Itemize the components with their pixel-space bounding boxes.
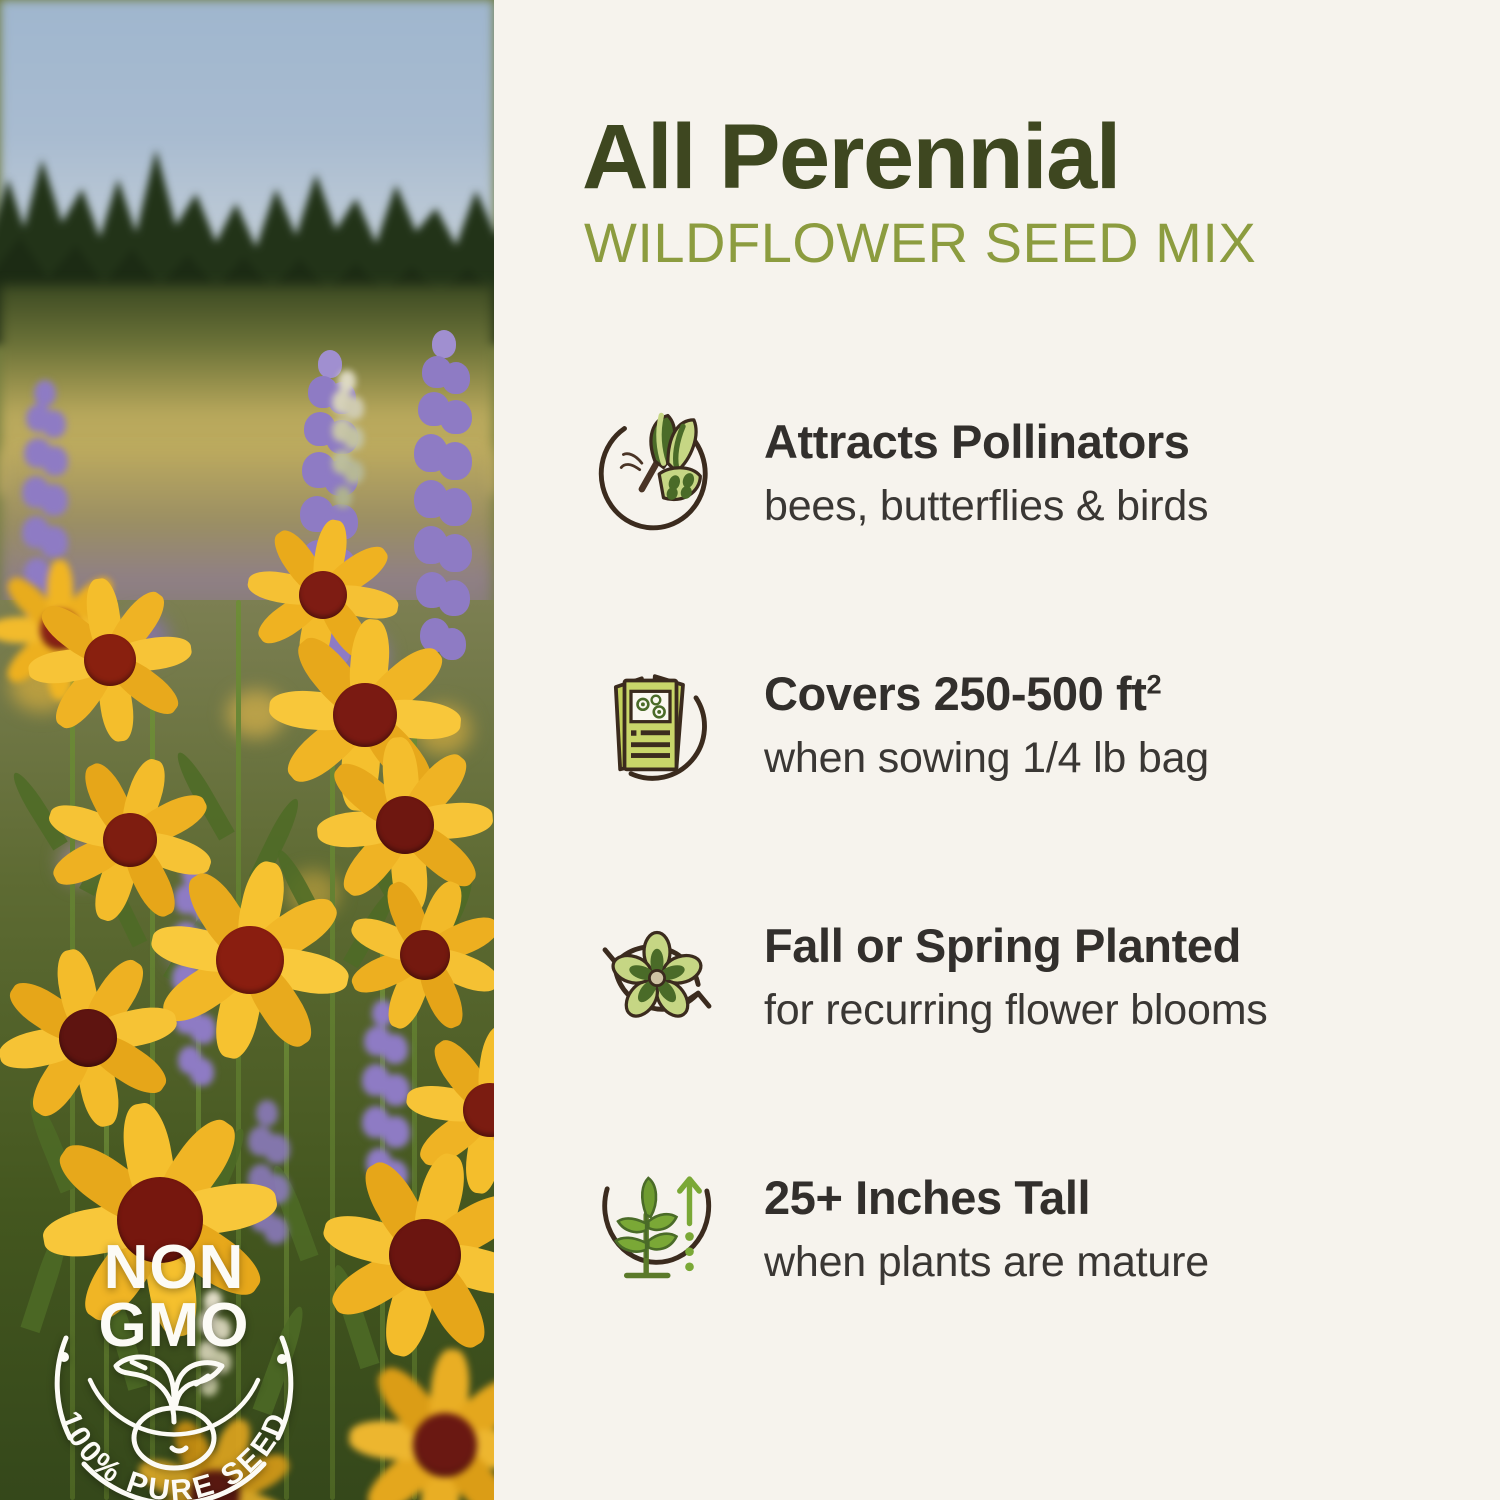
feature-text: Fall or Spring Planted for recurring flo…	[764, 920, 1268, 1035]
feature-headline-superscript: 2	[1146, 669, 1161, 700]
plant-height-icon	[582, 1155, 732, 1305]
non-gmo-badge: NON GMO 100% PURE SEED	[24, 1226, 324, 1500]
product-infographic: NON GMO 100% PURE SEED All	[0, 0, 1500, 1500]
butterfly-icon	[582, 399, 732, 549]
feature-attracts-pollinators: Attracts Pollinators bees, butterflies &…	[582, 389, 1500, 559]
feature-subtext: bees, butterflies & birds	[764, 481, 1208, 532]
title-block: All Perennial WILDFLOWER SEED MIX	[582, 0, 1500, 271]
page-subtitle: WILDFLOWER SEED MIX	[584, 215, 1500, 271]
feature-text: Attracts Pollinators bees, butterflies &…	[764, 416, 1208, 531]
planting-cycle-icon	[582, 903, 732, 1053]
feature-headline: 25+ Inches Tall	[764, 1172, 1209, 1225]
feature-subtext: for recurring flower blooms	[764, 985, 1268, 1036]
feature-subtext: when plants are mature	[764, 1237, 1209, 1288]
feature-headline: Fall or Spring Planted	[764, 920, 1268, 973]
page-title: All Perennial	[582, 112, 1500, 203]
feature-headline: Covers 250-500 ft2	[764, 668, 1209, 721]
wildflower-meadow-photo: NON GMO 100% PURE SEED	[0, 0, 494, 1500]
content-panel: All Perennial WILDFLOWER SEED MIX	[494, 0, 1500, 1500]
feature-text: 25+ Inches Tall when plants are mature	[764, 1172, 1209, 1287]
feature-list: Attracts Pollinators bees, butterflies &…	[582, 389, 1500, 1315]
feature-headline: Attracts Pollinators	[764, 416, 1208, 469]
feature-plant-height: 25+ Inches Tall when plants are mature	[582, 1145, 1500, 1315]
seed-sprout-icon	[116, 1357, 222, 1468]
feature-text: Covers 250-500 ft2 when sowing 1/4 lb ba…	[764, 668, 1209, 783]
feature-coverage-area: Covers 250-500 ft2 when sowing 1/4 lb ba…	[582, 641, 1500, 811]
feature-planting-season: Fall or Spring Planted for recurring flo…	[582, 893, 1500, 1063]
seed-packet-icon	[582, 651, 732, 801]
feature-subtext: when sowing 1/4 lb bag	[764, 733, 1209, 784]
badge-line2: GMO	[98, 1291, 249, 1360]
